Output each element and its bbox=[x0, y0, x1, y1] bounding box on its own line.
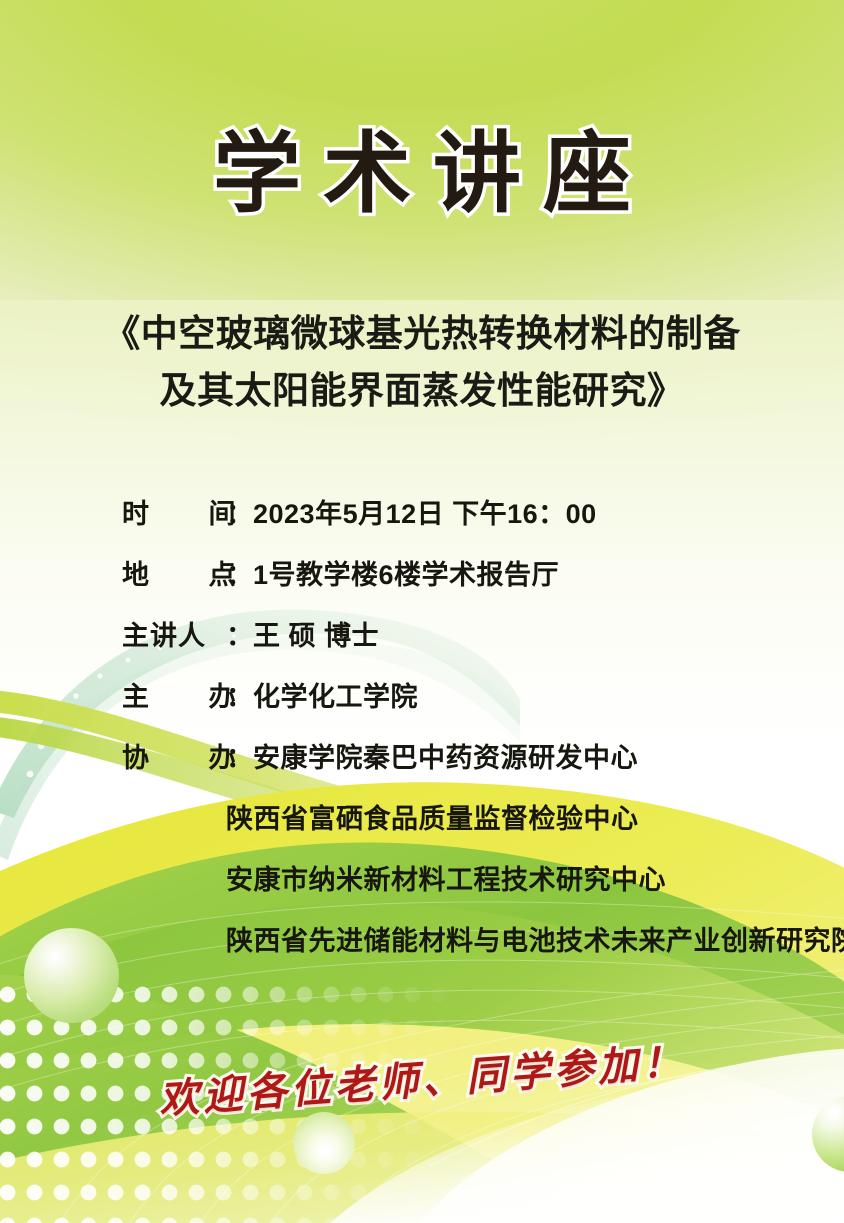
lecture-topic-line-1: 《中空玻璃微球基光热转换材料的制备 bbox=[55, 305, 789, 362]
detail-separator-location: ： bbox=[226, 553, 253, 592]
detail-row-time: 时 间 ： 2023年5月12日 下午16：00 bbox=[0, 492, 844, 553]
detail-label-speaker: 主讲人 bbox=[122, 614, 226, 653]
detail-label-location: 地 点 bbox=[122, 553, 226, 592]
detail-separator-host: ： bbox=[226, 675, 253, 714]
detail-separator-time: ： bbox=[226, 492, 253, 531]
lecture-topic-line-2: 及其太阳能界面蒸发性能研究》 bbox=[55, 362, 789, 419]
detail-row-location: 地 点 ： 1号教学楼6楼学术报告厅 bbox=[0, 553, 844, 614]
detail-row-speaker: 主讲人 ： 王 硕 博士 bbox=[0, 614, 844, 675]
detail-value-cohost-extra-2: 安康市纳米新材料工程技术研究中心 bbox=[226, 858, 666, 897]
detail-row-host: 主 办 ： 化学化工学院 bbox=[0, 675, 844, 736]
page-title: 学术讲座 bbox=[0, 128, 844, 220]
detail-value-host: 化学化工学院 bbox=[253, 675, 418, 714]
lecture-details-block: 时 间 ： 2023年5月12日 下午16：00 地 点 ： 1号教学楼6楼学术… bbox=[0, 492, 844, 980]
detail-separator-speaker: ： bbox=[226, 614, 253, 653]
detail-row-cohost: 协 办 ： 安康学院秦巴中药资源研发中心 bbox=[0, 736, 844, 797]
detail-value-time: 2023年5月12日 下午16：00 bbox=[253, 492, 597, 531]
detail-row-cohost-extra-2: 安康市纳米新材料工程技术研究中心 bbox=[0, 858, 844, 919]
detail-value-cohost-extra-1: 陕西省富硒食品质量监督检验中心 bbox=[226, 797, 639, 836]
detail-label-cohost: 协 办 bbox=[122, 736, 226, 775]
detail-row-cohost-extra-3: 陕西省先进储能材料与电池技术未来产业创新研究院 bbox=[0, 919, 844, 980]
detail-label-time: 时 间 bbox=[122, 492, 226, 531]
detail-row-cohost-extra-1: 陕西省富硒食品质量监督检验中心 bbox=[0, 797, 844, 858]
detail-value-speaker: 王 硕 博士 bbox=[253, 614, 379, 653]
glossy-sphere-center bbox=[293, 1112, 355, 1174]
detail-value-cohost: 安康学院秦巴中药资源研发中心 bbox=[253, 736, 638, 775]
detail-value-location: 1号教学楼6楼学术报告厅 bbox=[253, 553, 559, 592]
academic-lecture-poster: 学术讲座 《中空玻璃微球基光热转换材料的制备 及其太阳能界面蒸发性能研究》 时 … bbox=[0, 0, 844, 1223]
lecture-topic-title: 《中空玻璃微球基光热转换材料的制备 及其太阳能界面蒸发性能研究》 bbox=[55, 305, 789, 420]
detail-label-host: 主 办 bbox=[122, 675, 226, 714]
detail-separator-cohost: ： bbox=[226, 736, 253, 775]
detail-value-cohost-extra-3: 陕西省先进储能材料与电池技术未来产业创新研究院 bbox=[226, 919, 844, 958]
